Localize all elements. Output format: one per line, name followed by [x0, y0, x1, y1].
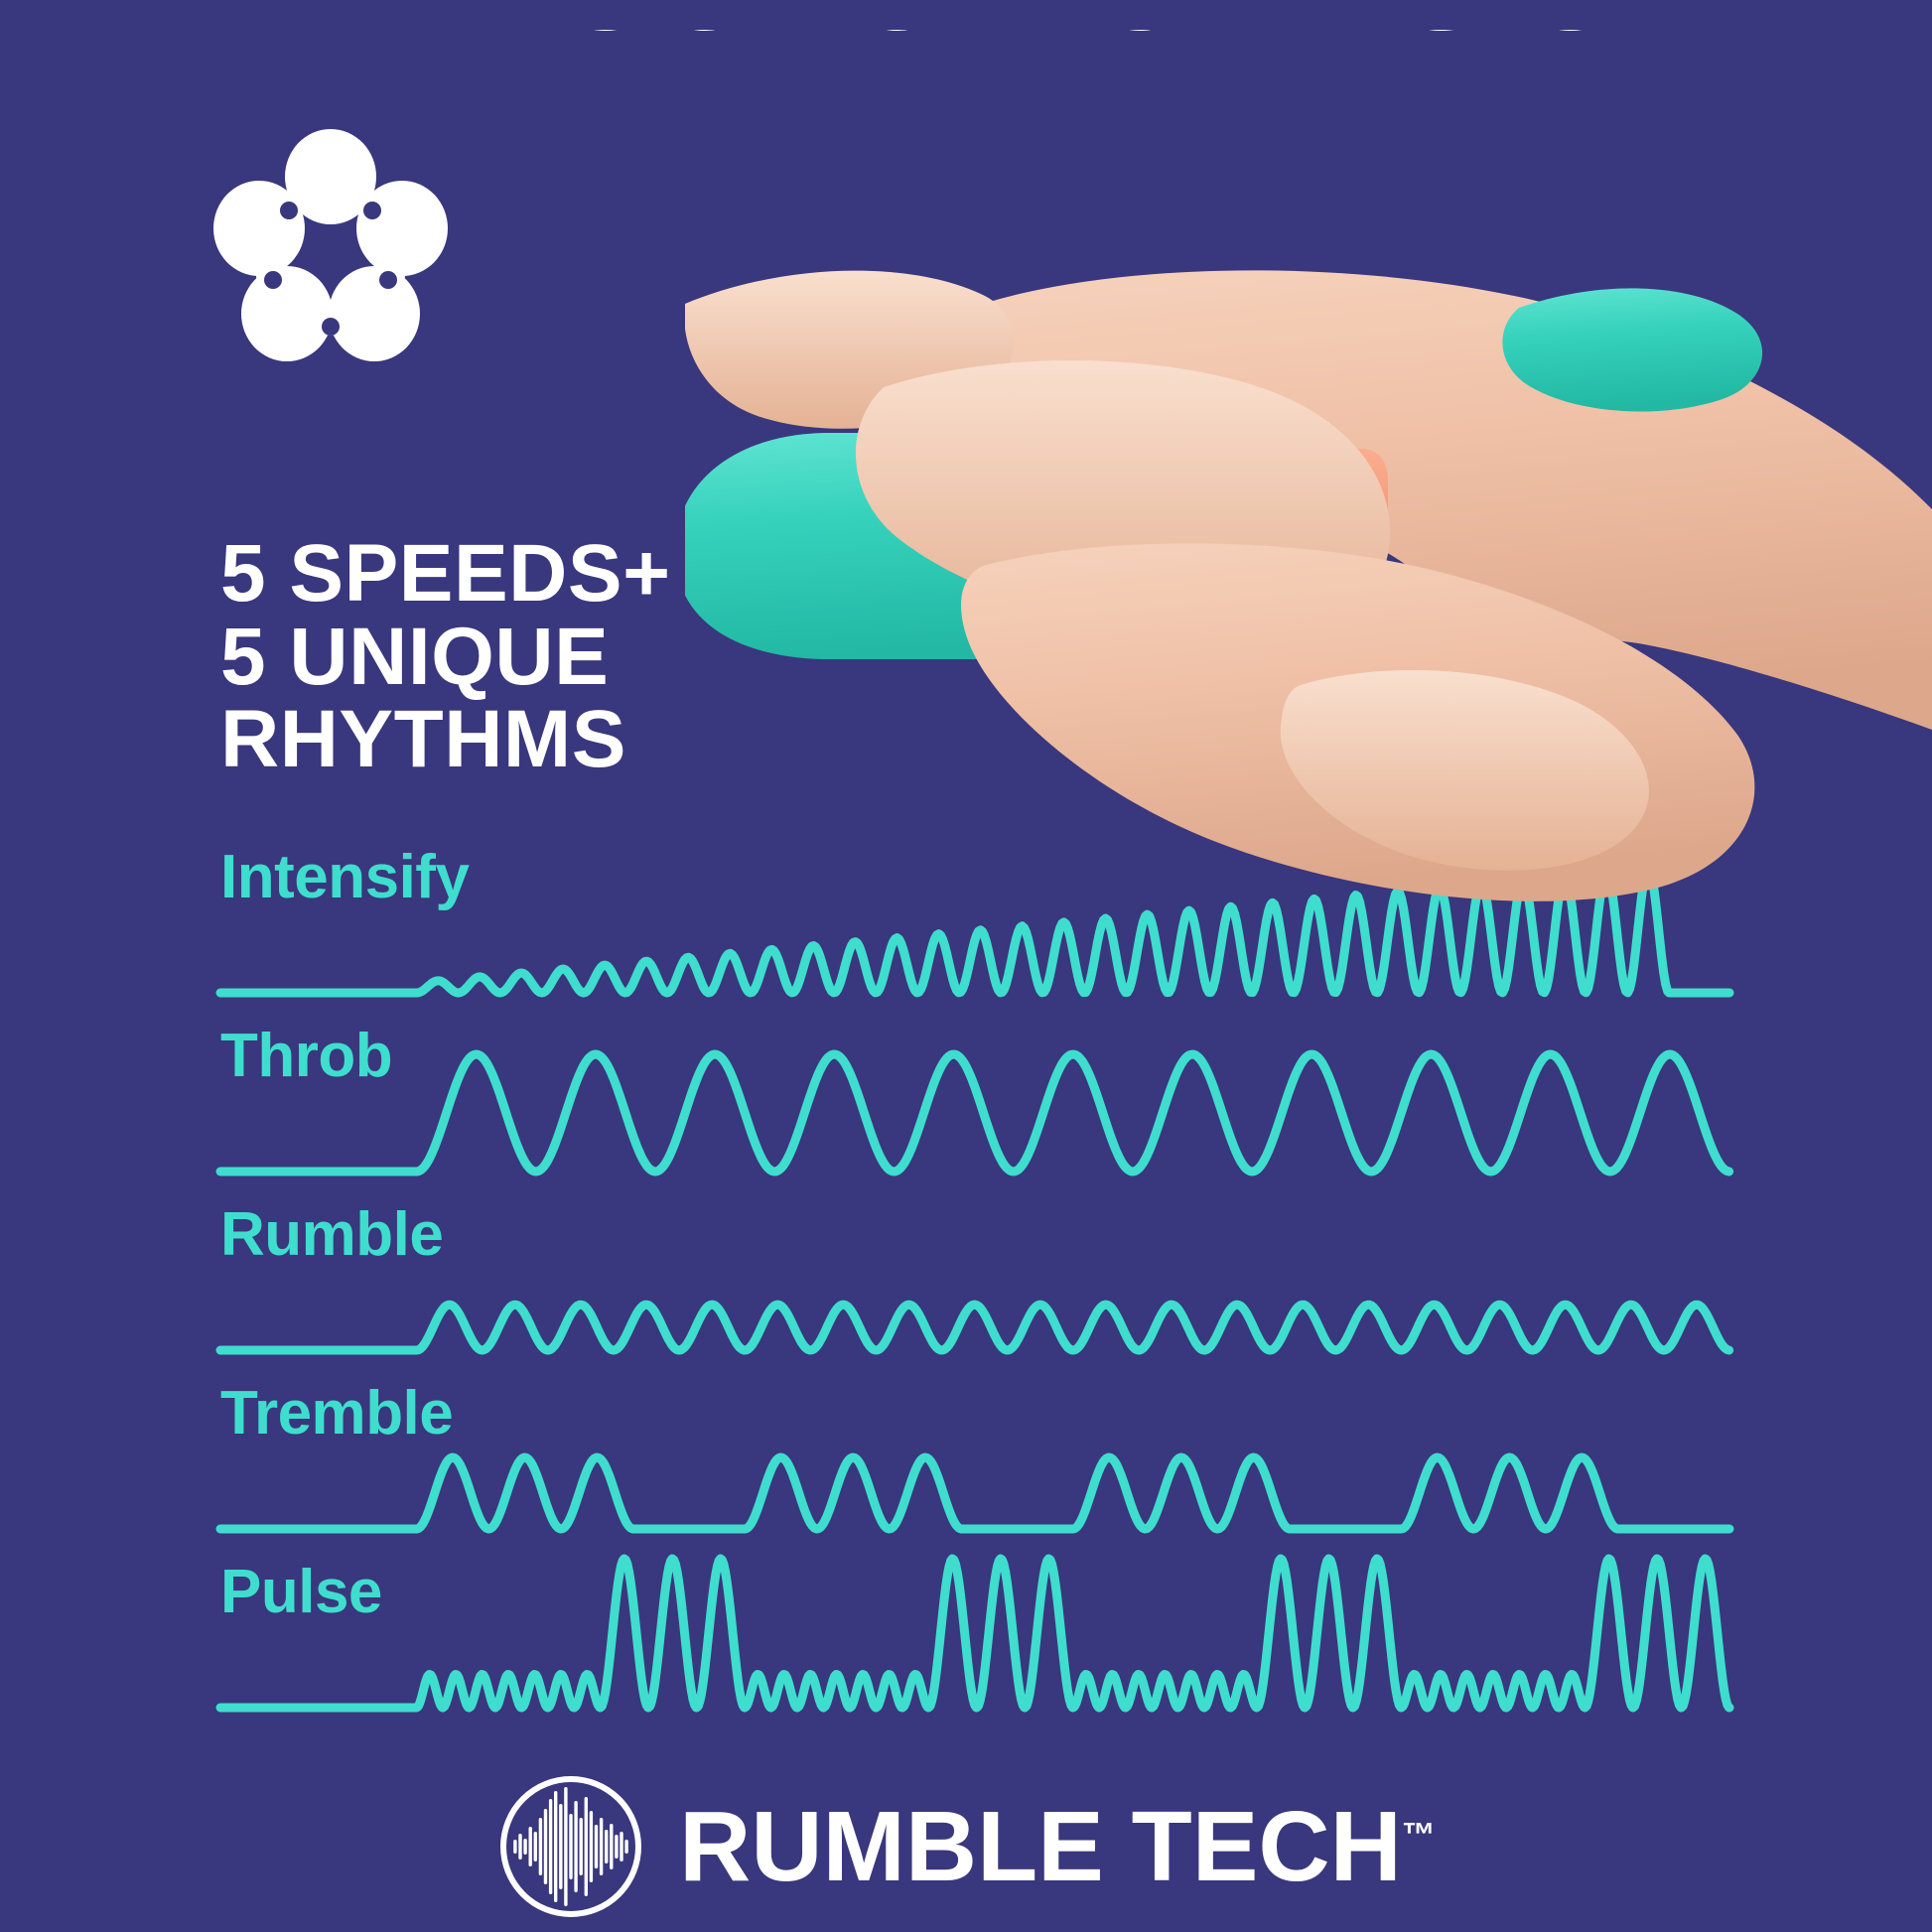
rhythm-label-tremble: Tremble [220, 1378, 453, 1449]
rhythm-row: Pulse [0, 1557, 1932, 1735]
rhythm-label-rumble: Rumble [220, 1199, 443, 1270]
page-title-text: ERGONOMIC DESIGN [377, 30, 1714, 58]
thumb [1281, 670, 1649, 871]
brand-wordmark: RUMBLE TECH™ [679, 1797, 1436, 1896]
rhythm-wave-pulse [220, 1557, 1729, 1735]
product-coral-cap [1267, 445, 1388, 572]
feature-line-1: 5 SPEEDS+ [220, 532, 836, 616]
rhythm-wave-rumble [220, 1199, 1729, 1378]
rhythm-row: Intensify [0, 842, 1932, 1021]
hand-shape [934, 270, 1932, 735]
middle-finger [856, 360, 1390, 638]
brand-lockup: RUMBLE TECH™ [0, 1757, 1932, 1932]
waveform-circle-icon [496, 1772, 645, 1921]
rhythm-row: Throb [0, 1021, 1932, 1199]
brand-name: RUMBLE TECH [679, 1791, 1402, 1902]
rhythm-wave-throb [220, 1021, 1729, 1199]
rhythm-waveform-list: Intensify Throb Rumble [0, 842, 1932, 1755]
trademark-symbol: ™ [1402, 1817, 1436, 1855]
feature-line-2: 5 UNIQUE [220, 616, 836, 699]
rhythm-label-throb: Throb [220, 1021, 392, 1091]
page-title: ERGONOMIC DESIGN [377, 30, 1926, 328]
rhythm-row: Rumble [0, 1199, 1932, 1378]
rhythm-label-intensify: Intensify [220, 842, 469, 912]
rhythm-row: Tremble [0, 1378, 1932, 1557]
infographic-poster: ERGONOMIC DESIGN 5 SPEEDS+ 5 UNIQUE RHYT… [0, 0, 1932, 1932]
product-gold-band [1233, 441, 1267, 576]
feature-line-3: RHYTHMS [220, 698, 836, 781]
features-text-block: 5 SPEEDS+ 5 UNIQUE RHYTHMS [220, 532, 836, 781]
rhythm-label-pulse: Pulse [220, 1557, 382, 1627]
